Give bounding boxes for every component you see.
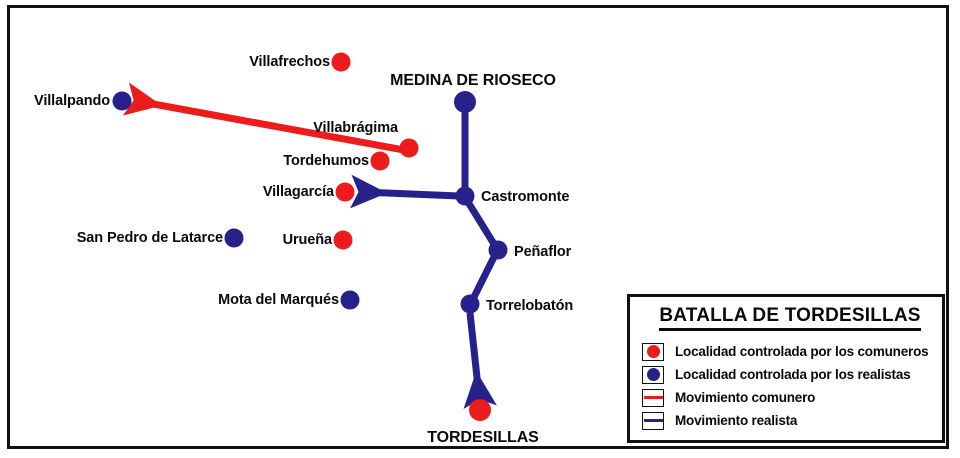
town-marker-villagarcía[interactable] [336,183,355,202]
town-label-torrelobatón: Torrelobatón [486,299,573,314]
legend-item: Movimiento realista [642,409,932,432]
town-marker-torrelobatón[interactable] [461,295,480,314]
legend-items: Localidad controlada por los comunerosLo… [642,340,932,432]
town-marker-san-pedro-de-latarce[interactable] [225,229,244,248]
town-label-tordehumos: Tordehumos [283,154,369,169]
town-marker-castromonte[interactable] [456,187,475,206]
town-label-villafrechos: Villafrechos [249,55,330,70]
legend-dot-swatch [642,343,664,361]
town-label-castromonte: Castromonte [481,190,569,205]
legend-line-icon [644,419,663,422]
legend-item: Movimiento comunero [642,386,932,409]
town-marker-tordesillas[interactable] [469,399,491,421]
legend-title: BATALLA DE TORDESILLAS [659,305,920,331]
movement-arrows-layer [137,101,494,396]
movimiento-realista-castromonte-villagarcia [362,192,459,196]
legend-item: Localidad controlada por los comuneros [642,340,932,363]
town-marker-villalpando[interactable] [113,92,132,111]
town-label-medina-de-rioseco: MEDINA DE RIOSECO [390,73,556,89]
movimiento-realista-castromonte-penaflor [468,202,494,244]
legend-dot-icon [647,368,660,381]
town-marker-mota-del-marqués[interactable] [341,291,360,310]
legend-line-swatch [642,389,664,407]
town-label-villagarcía: Villagarcía [263,185,334,200]
town-label-peñaflor: Peñaflor [514,245,571,260]
map-legend: BATALLA DE TORDESILLAS Localidad control… [627,294,945,443]
legend-item-label: Localidad controlada por los realistas [675,367,910,382]
town-marker-villafrechos[interactable] [332,53,351,72]
town-marker-tordehumos[interactable] [371,152,390,171]
movimiento-realista-torrelobaton-tordesillas [470,313,479,396]
town-label-san-pedro-de-latarce: San Pedro de Latarce [77,231,223,246]
town-marker-medina-de-rioseco[interactable] [454,91,476,113]
town-label-tordesillas: TORDESILLAS [427,430,539,446]
town-label-villalpando: Villalpando [34,94,110,109]
town-marker-urueña[interactable] [334,231,353,250]
town-label-urueña: Urueña [283,233,332,248]
legend-dot-swatch [642,366,664,384]
legend-item-label: Movimiento comunero [675,390,815,405]
legend-item-label: Movimiento realista [675,413,797,428]
legend-line-swatch [642,412,664,430]
legend-item: Localidad controlada por los realistas [642,363,932,386]
movimiento-realista-penaflor-torrelobaton [474,257,494,297]
legend-dot-icon [647,345,660,358]
town-label-mota-del-marqués: Mota del Marqués [218,293,339,308]
legend-line-icon [644,396,663,399]
legend-item-label: Localidad controlada por los comuneros [675,344,928,359]
town-label-villabrágima: Villabrágima [313,121,398,136]
town-marker-villabrágima[interactable] [400,139,419,158]
town-marker-peñaflor[interactable] [489,241,508,260]
